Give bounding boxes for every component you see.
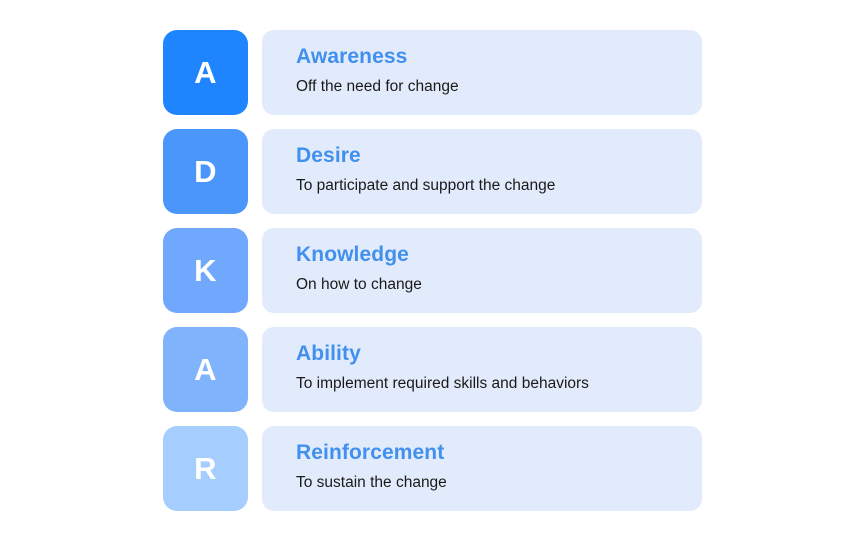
step-description: To sustain the change — [296, 473, 682, 492]
letter-glyph: R — [194, 453, 217, 484]
adkar-step-reinforcement: R Reinforcement To sustain the change — [163, 426, 702, 511]
step-title: Awareness — [296, 45, 682, 70]
letter-glyph: A — [194, 57, 217, 88]
step-title: Knowledge — [296, 243, 682, 268]
adkar-step-knowledge: K Knowledge On how to change — [163, 228, 702, 313]
letter-tile-desire: D — [163, 129, 248, 214]
step-description: To implement required skills and behavio… — [296, 374, 682, 393]
step-description: On how to change — [296, 275, 682, 294]
letter-tile-reinforcement: R — [163, 426, 248, 511]
adkar-step-awareness: A Awareness Off the need for change — [163, 30, 702, 115]
info-panel-reinforcement: Reinforcement To sustain the change — [262, 426, 702, 511]
step-title: Desire — [296, 144, 682, 169]
letter-tile-knowledge: K — [163, 228, 248, 313]
step-description: Off the need for change — [296, 77, 682, 96]
info-panel-desire: Desire To participate and support the ch… — [262, 129, 702, 214]
letter-glyph: D — [194, 156, 217, 187]
step-description: To participate and support the change — [296, 176, 682, 195]
info-panel-awareness: Awareness Off the need for change — [262, 30, 702, 115]
adkar-step-ability: A Ability To implement required skills a… — [163, 327, 702, 412]
info-panel-knowledge: Knowledge On how to change — [262, 228, 702, 313]
letter-glyph: A — [194, 354, 217, 385]
step-title: Reinforcement — [296, 441, 682, 466]
info-panel-ability: Ability To implement required skills and… — [262, 327, 702, 412]
letter-tile-ability: A — [163, 327, 248, 412]
letter-glyph: K — [194, 255, 217, 286]
letter-tile-awareness: A — [163, 30, 248, 115]
step-title: Ability — [296, 342, 682, 367]
adkar-step-desire: D Desire To participate and support the … — [163, 129, 702, 214]
adkar-diagram: A Awareness Off the need for change D De… — [0, 0, 864, 540]
